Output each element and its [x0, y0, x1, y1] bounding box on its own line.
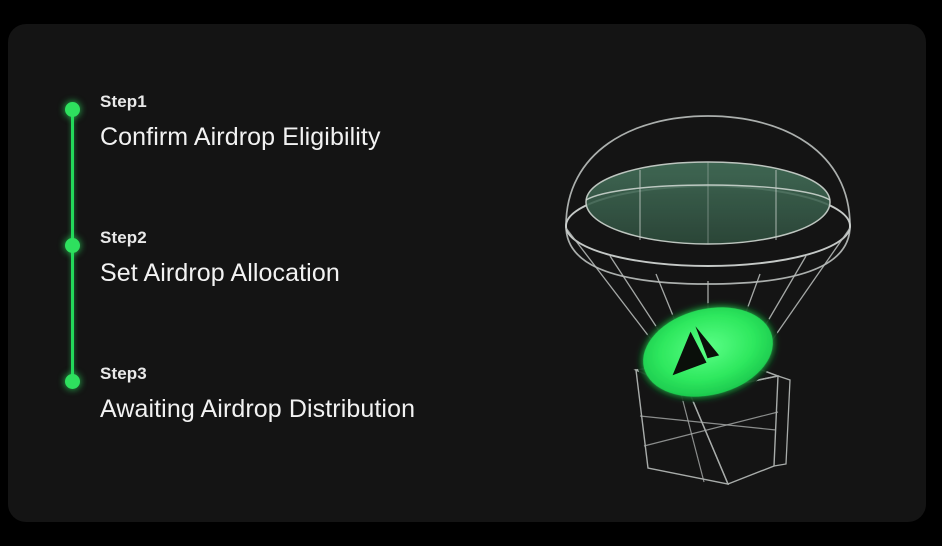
airdrop-coin: [627, 288, 790, 416]
step-title-2: Set Airdrop Allocation: [100, 256, 490, 291]
step-dot-3: [65, 374, 80, 389]
parachute-canopy: [566, 116, 850, 284]
airdrop-stepper: Step1 Confirm Airdrop Eligibility Step2 …: [56, 80, 496, 500]
airdrop-parachute-illustration: [528, 94, 888, 494]
step-dot-2: [65, 238, 80, 253]
screen-root: Step1 Confirm Airdrop Eligibility Step2 …: [0, 0, 942, 546]
step-title-3: Awaiting Airdrop Distribution: [100, 392, 490, 427]
airdrop-steps-card: Step1 Confirm Airdrop Eligibility Step2 …: [8, 24, 926, 522]
step-title-1: Confirm Airdrop Eligibility: [100, 120, 490, 155]
step-dot-1: [65, 102, 80, 117]
step-label-3: Step3: [100, 364, 147, 384]
step-label-1: Step1: [100, 92, 147, 112]
step-label-2: Step2: [100, 228, 147, 248]
